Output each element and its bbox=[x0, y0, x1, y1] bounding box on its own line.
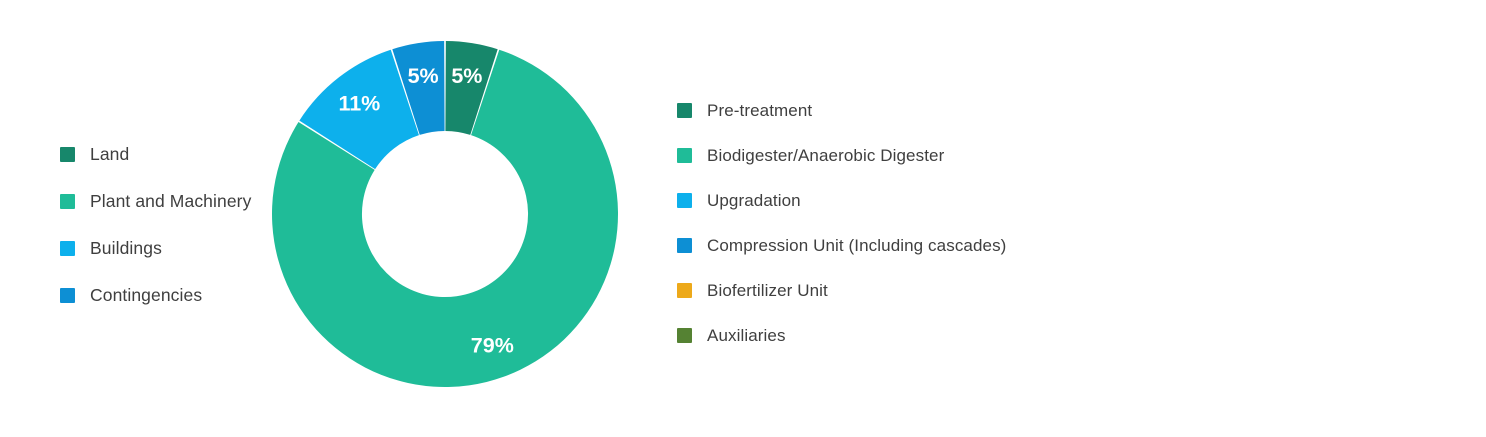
donut-chart-capital-cost: Land Plant and Machinery Buildings Conti… bbox=[0, 0, 660, 437]
legend-label-compression-unit: Compression Unit (Including cascades) bbox=[707, 237, 1006, 254]
legend-swatch-icon-compression-unit bbox=[677, 238, 692, 253]
donut-slice-value-label: 11% bbox=[338, 92, 380, 116]
legend-swatch-icon-auxiliaries bbox=[677, 328, 692, 343]
donut-chart-plant-components: Pre-treatment Biodigester/Anaerobic Dige… bbox=[660, 0, 1486, 437]
legend-swatch-icon-contingencies bbox=[60, 288, 75, 303]
legend-swatch-icon-biodigester bbox=[677, 148, 692, 163]
legend-swatch-icon-biofertilizer-unit bbox=[677, 283, 692, 298]
legend-swatch-icon-upgradation bbox=[677, 193, 692, 208]
legend-item-land[interactable]: Land bbox=[60, 131, 275, 178]
legend-label-buildings: Buildings bbox=[90, 240, 162, 258]
legend-swatch-icon-plant-and-machinery bbox=[60, 194, 75, 209]
legend-plant-components: Pre-treatment Biodigester/Anaerobic Dige… bbox=[677, 88, 1037, 358]
legend-swatch-icon-buildings bbox=[60, 241, 75, 256]
legend-item-buildings[interactable]: Buildings bbox=[60, 225, 275, 272]
legend-swatch-icon-land bbox=[60, 147, 75, 162]
legend-label-upgradation: Upgradation bbox=[707, 192, 801, 209]
legend-item-pre-treatment[interactable]: Pre-treatment bbox=[677, 88, 1037, 133]
legend-label-contingencies: Contingencies bbox=[90, 287, 202, 305]
legend-item-plant-and-machinery[interactable]: Plant and Machinery bbox=[60, 178, 275, 225]
legend-item-biofertilizer-unit[interactable]: Biofertilizer Unit bbox=[677, 268, 1037, 313]
legend-label-biofertilizer-unit: Biofertilizer Unit bbox=[707, 282, 828, 299]
legend-item-contingencies[interactable]: Contingencies bbox=[60, 272, 275, 319]
legend-item-biodigester[interactable]: Biodigester/Anaerobic Digester bbox=[677, 133, 1037, 178]
legend-capital-cost: Land Plant and Machinery Buildings Conti… bbox=[60, 131, 275, 319]
legend-item-compression-unit[interactable]: Compression Unit (Including cascades) bbox=[677, 223, 1037, 268]
donut-graphic-capital-cost: 5%79%11%5% bbox=[272, 41, 618, 387]
legend-label-plant-and-machinery: Plant and Machinery bbox=[90, 193, 251, 211]
donut-slice-value-label: 79% bbox=[471, 333, 514, 357]
legend-label-pre-treatment: Pre-treatment bbox=[707, 102, 812, 119]
donut-svg-capital-cost: 5%79%11%5% bbox=[272, 41, 618, 387]
legend-label-biodigester: Biodigester/Anaerobic Digester bbox=[707, 147, 944, 164]
legend-item-auxiliaries[interactable]: Auxiliaries bbox=[677, 313, 1037, 358]
legend-swatch-icon-pre-treatment bbox=[677, 103, 692, 118]
donut-slice-value-label: 5% bbox=[451, 64, 482, 88]
legend-label-auxiliaries: Auxiliaries bbox=[707, 327, 786, 344]
donut-slice-value-label: 5% bbox=[408, 64, 439, 88]
legend-item-upgradation[interactable]: Upgradation bbox=[677, 178, 1037, 223]
legend-label-land: Land bbox=[90, 146, 129, 164]
